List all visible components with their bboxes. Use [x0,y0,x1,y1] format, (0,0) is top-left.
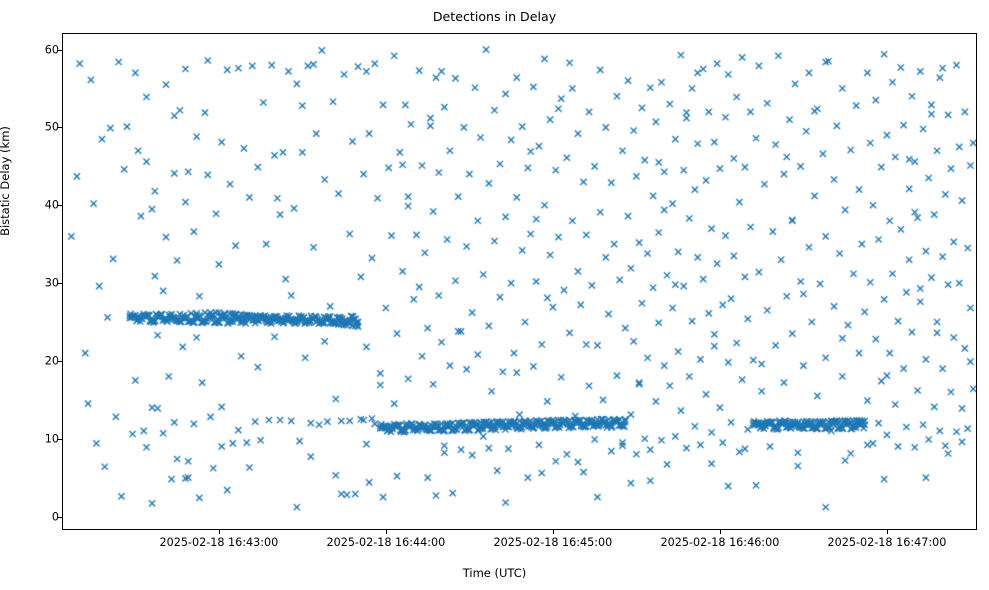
scatter-plot-canvas [63,34,976,529]
y-tick-label: 30 [45,277,59,290]
x-tick-mark [219,530,220,534]
matplotlib-figure: Detections in Delay 0102030405060 2025-0… [0,0,989,590]
y-tick-label: 40 [45,199,59,212]
y-axis-label: Bistatic Delay (km) [0,81,12,281]
x-tick-mark [386,530,387,534]
x-tick-label: 2025-02-18 16:47:00 [828,536,947,549]
y-tick-label: 50 [45,121,59,134]
plot-axes-area [62,33,977,530]
x-tick-mark [553,530,554,534]
y-tick-label: 0 [52,510,59,523]
y-tick-label: 10 [45,432,59,445]
y-tick-label: 60 [45,43,59,56]
x-tick-mark [887,530,888,534]
chart-title: Detections in Delay [0,9,989,25]
x-tick-label: 2025-02-18 16:44:00 [326,536,445,549]
x-tick-mark [720,530,721,534]
y-tick-label: 20 [45,354,59,367]
x-tick-label: 2025-02-18 16:43:00 [159,536,278,549]
x-tick-label: 2025-02-18 16:45:00 [493,536,612,549]
x-axis-label: Time (UTC) [0,566,989,580]
x-tick-label: 2025-02-18 16:46:00 [660,536,779,549]
